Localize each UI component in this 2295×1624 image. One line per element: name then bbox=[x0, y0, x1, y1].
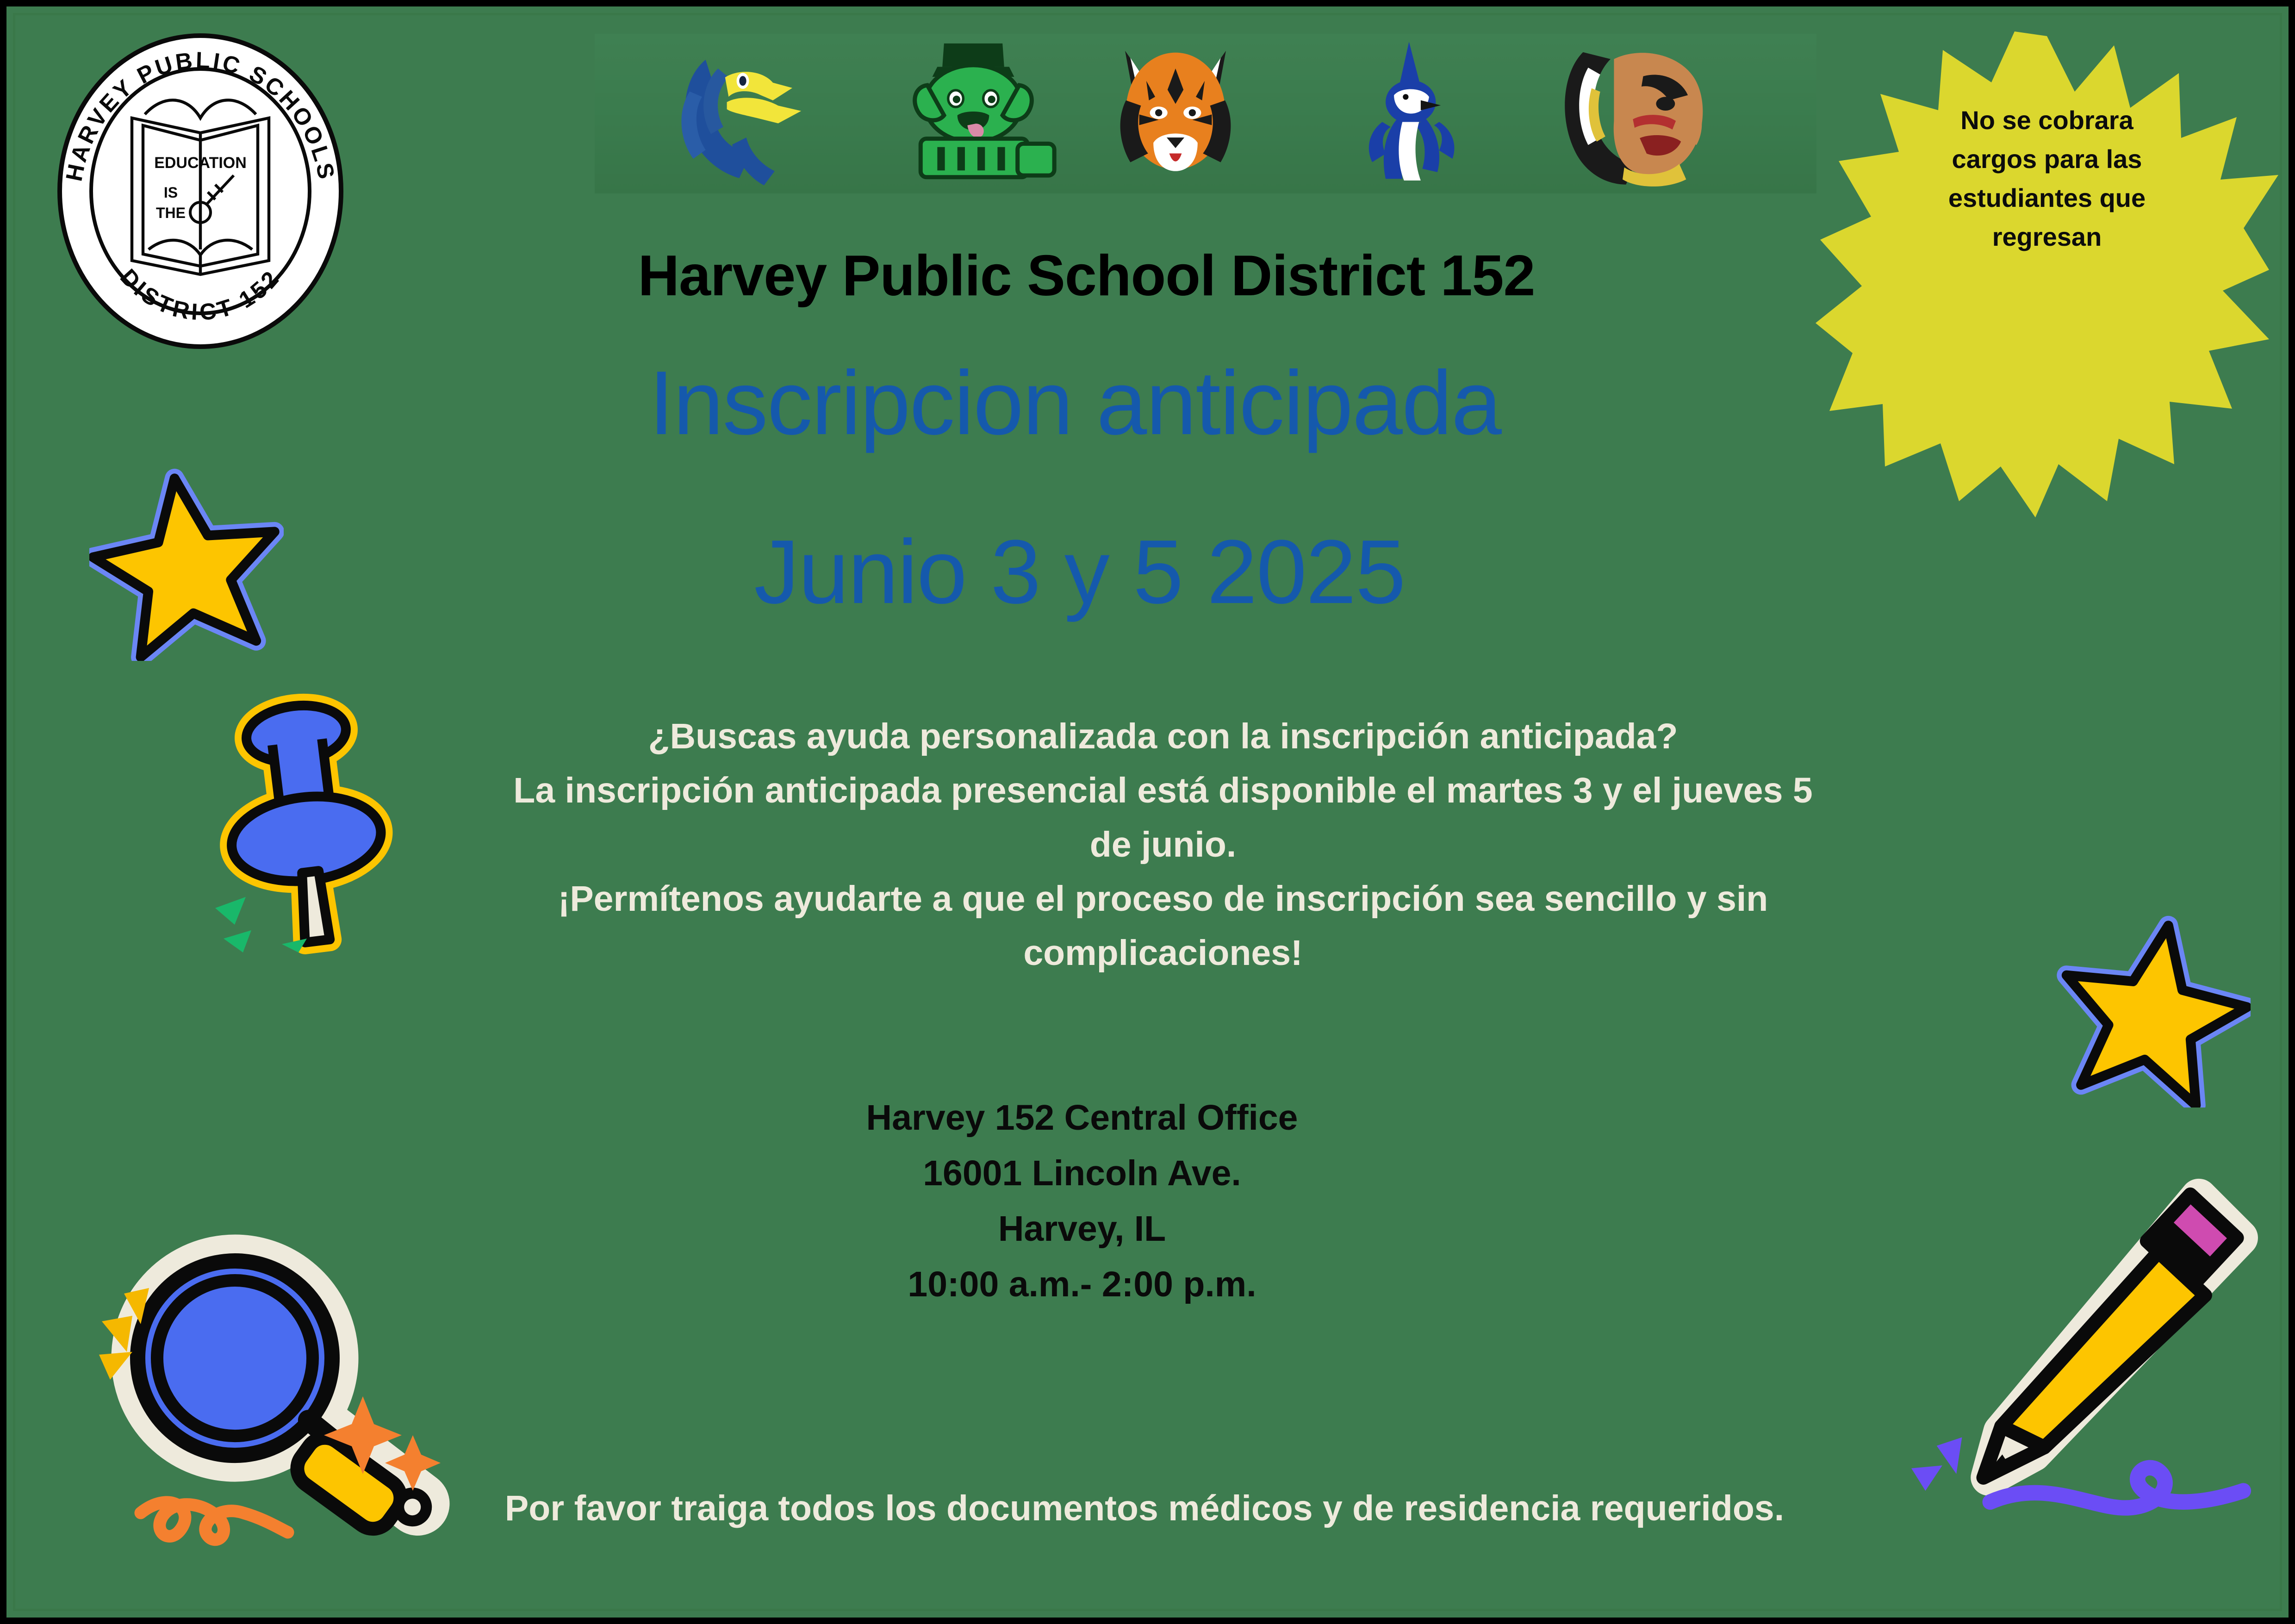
body-line-1: ¿Buscas ayuda personalizada con la inscr… bbox=[168, 709, 2158, 764]
badge-text: No se cobrara cargos para las estudiante… bbox=[1894, 101, 2200, 256]
star-sticker-right bbox=[2056, 913, 2251, 1108]
district-title: Harvey Public School District 152 bbox=[13, 243, 2234, 309]
tiger-mascot bbox=[1099, 38, 1252, 189]
seal-inner-line2: IS bbox=[164, 184, 178, 201]
address-line-street: 16001 Lincoln Ave. bbox=[87, 1145, 2077, 1201]
badge-line-2: cargos para las bbox=[1894, 140, 2200, 179]
badge-line-1: No se cobrara bbox=[1894, 101, 2200, 140]
pushpin-sticker bbox=[210, 686, 404, 955]
blue-jay-mascot bbox=[1354, 38, 1469, 189]
flyer-canvas: HARVEY PUBLIC SCHOOLS DISTRICT 152 EDUCA… bbox=[13, 13, 2282, 1611]
flyer-poster: HARVEY PUBLIC SCHOOLS DISTRICT 152 EDUCA… bbox=[0, 0, 2295, 1624]
school-mascots-banner bbox=[595, 34, 1816, 193]
badge-line-3: estudiantes que bbox=[1894, 179, 2200, 218]
magnifying-glass-sticker bbox=[80, 1219, 460, 1552]
headline-fechas: Junio 3 y 5 2025 bbox=[13, 527, 2227, 617]
body-line-5: complicaciones! bbox=[168, 926, 2158, 980]
body-copy: ¿Buscas ayuda personalizada con la inscr… bbox=[168, 709, 2158, 980]
seal-inner-line1: EDUCATION bbox=[154, 154, 247, 172]
bulldog-mascot bbox=[871, 38, 1075, 189]
body-line-3: de junio. bbox=[168, 818, 2158, 872]
address-line-office: Harvey 152 Central Office bbox=[87, 1090, 2077, 1145]
headline-inscripcion: Inscripcion anticipada bbox=[13, 358, 2222, 448]
eagle-mascot bbox=[653, 38, 833, 189]
body-line-4: ¡Permítenos ayudarte a que el proceso de… bbox=[168, 872, 2158, 926]
pencil-sticker bbox=[1903, 1170, 2274, 1522]
star-sticker-left bbox=[89, 467, 284, 661]
chief-mascot bbox=[1548, 38, 1733, 189]
body-line-2: La inscripción anticipada presencial est… bbox=[168, 764, 2158, 818]
seal-inner-line3: THE bbox=[156, 205, 186, 221]
